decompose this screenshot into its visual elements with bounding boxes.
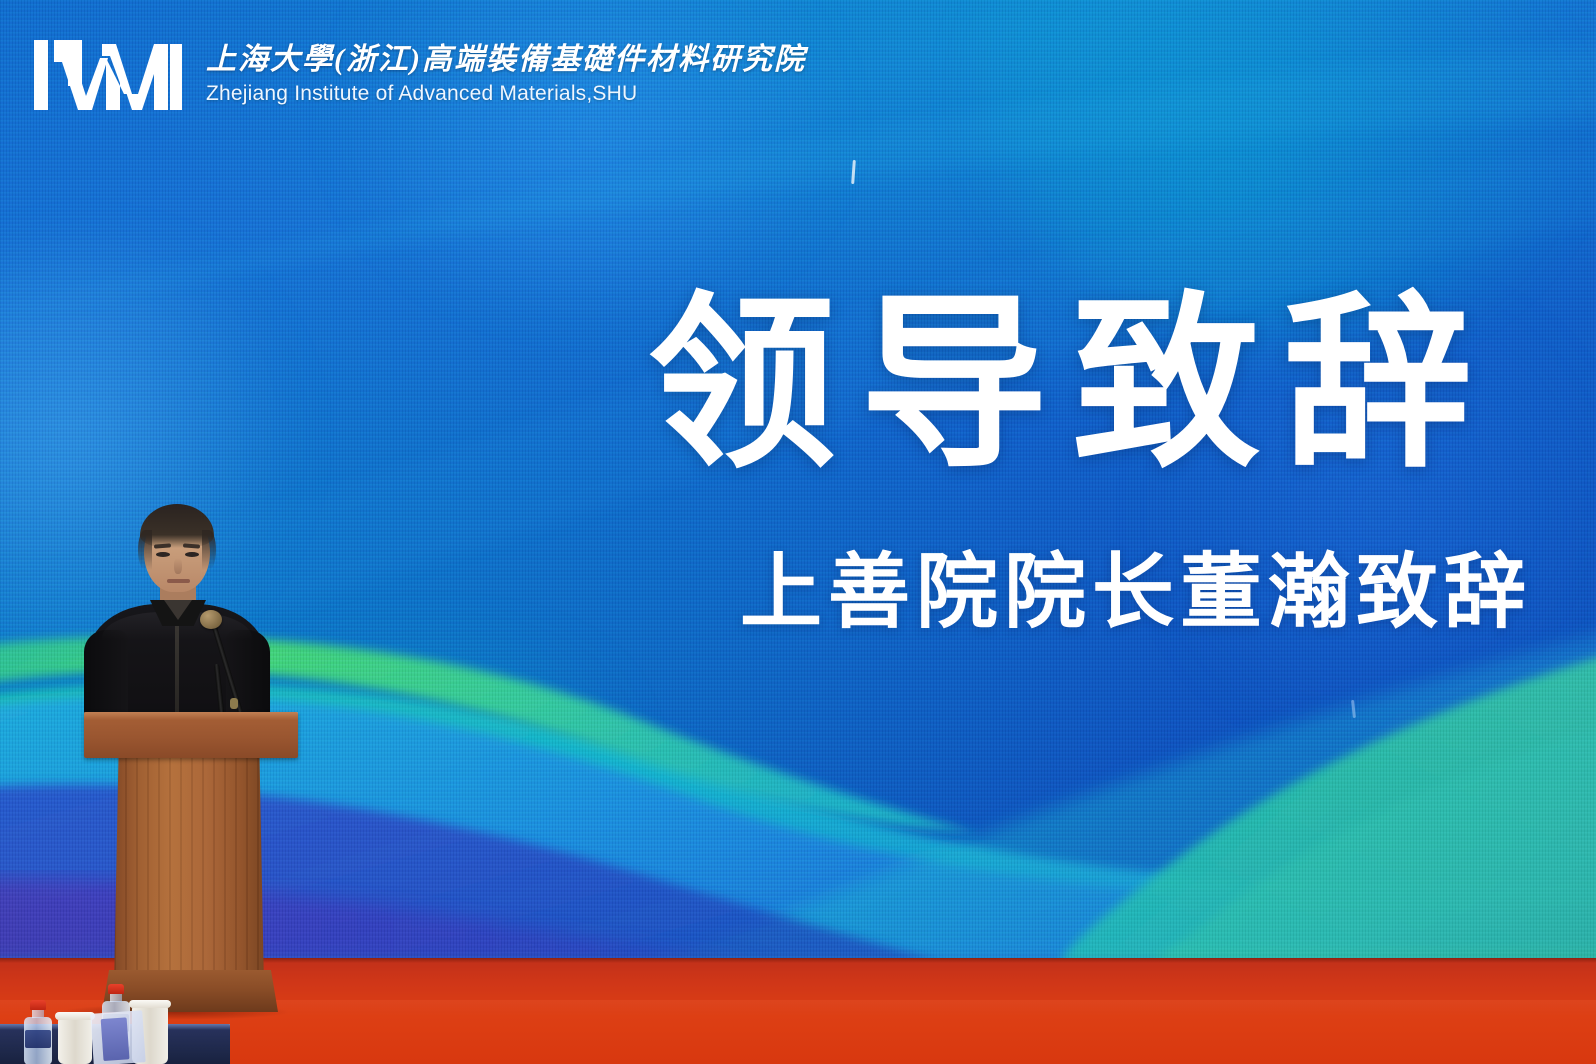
logo-text-block: 上海大學(浙江)高端裝備基礎件材料研究院 Zhejiang Institute … <box>206 43 806 108</box>
slide-headline: 领导致辞 <box>648 290 1596 478</box>
speaker-hair-left <box>138 530 152 570</box>
podium-desktop-highlight <box>84 712 298 720</box>
paper-cup-lid <box>129 1000 171 1008</box>
logo-chinese-name: 上海大學(浙江)高端裝備基礎件材料研究院 <box>206 43 806 77</box>
paper-cup-lid <box>55 1012 95 1020</box>
bottle-cap <box>30 1000 46 1010</box>
speaker-eye-left <box>156 552 170 557</box>
water-bottle <box>22 1000 56 1064</box>
gooseneck-microphone-icon <box>200 610 260 718</box>
microphone-head <box>200 610 222 629</box>
bottle-label <box>25 1030 51 1048</box>
bottle-neck <box>32 1009 44 1018</box>
name-card <box>101 1017 130 1061</box>
speaker-nose <box>174 558 182 574</box>
speaker-mouth <box>167 579 190 583</box>
name-card-holder <box>90 1010 146 1064</box>
slide-subheadline: 上善院院长董瀚致辞 <box>740 552 1596 634</box>
bottle-cap <box>108 984 124 994</box>
wooden-speaking-podium <box>84 712 298 1012</box>
microphone-clip <box>230 698 238 709</box>
paper-cup <box>58 1018 92 1064</box>
speaker-hair-right <box>202 530 216 570</box>
stage-scene: 上海大學(浙江)高端裝備基礎件材料研究院 Zhejiang Institute … <box>0 0 1596 1064</box>
speaker-eye-right <box>185 552 199 557</box>
podium-wood-grain <box>114 756 264 988</box>
logo-english-name: Zhejiang Institute of Advanced Materials… <box>206 80 806 107</box>
bottle-neck <box>110 993 122 1002</box>
speaker-at-podium <box>82 500 292 740</box>
institute-logo-lockup: 上海大學(浙江)高端裝備基礎件材料研究院 Zhejiang Institute … <box>32 34 806 116</box>
iam-monogram-logo-icon <box>32 34 184 116</box>
